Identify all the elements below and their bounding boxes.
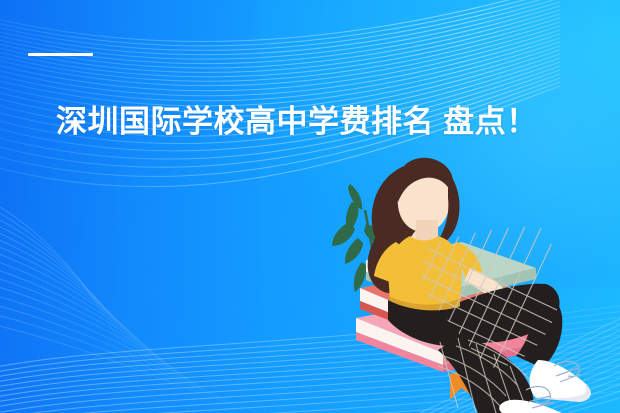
- title-accent-rule: [28, 53, 93, 56]
- shoe-upper: [530, 360, 591, 402]
- page-title: 深圳国际学校高中学费排名 盘点！: [56, 103, 538, 141]
- illustration-girl-on-books: [310, 150, 620, 413]
- promo-banner: 深圳国际学校高中学费排名 盘点！: [0, 0, 620, 413]
